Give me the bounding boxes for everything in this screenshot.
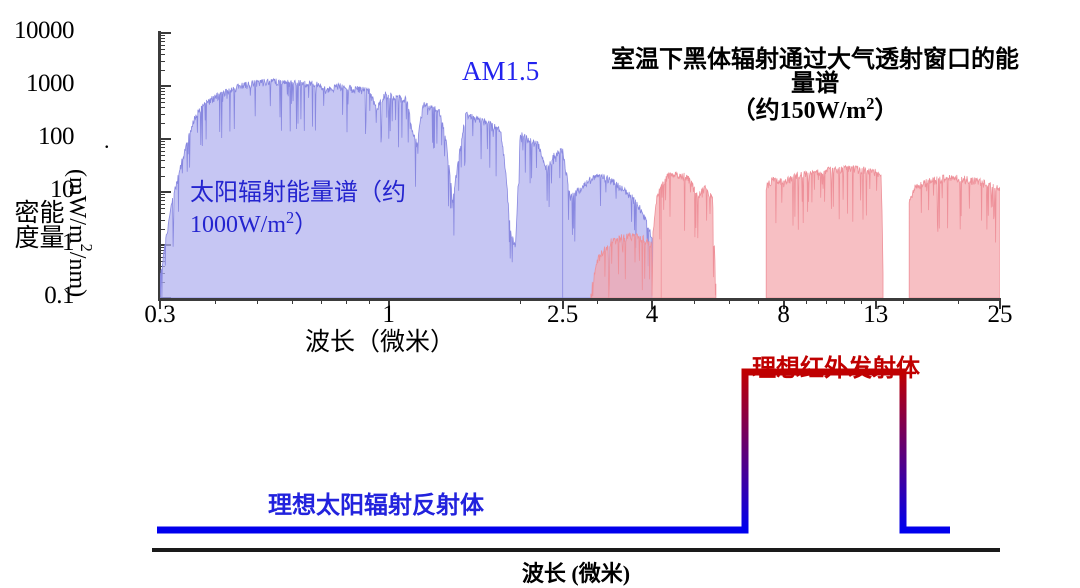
y-tick-label: 10	[50, 176, 74, 204]
ir-spectrum-series	[591, 165, 1000, 298]
y-tick-label: 1000	[26, 70, 74, 98]
x-tick-minor	[597, 298, 598, 304]
emitter-diagram: 理想红外发射体 理想太阳辐射反射体 波长 (微米)	[0, 345, 1080, 581]
figure-root: . 能量密度 (mW/m2/nm) 1000010001001010.1 0.3…	[0, 0, 1080, 581]
annotation-am15: AM1.5	[462, 56, 539, 87]
solar-label-line2-sup: 2	[286, 208, 294, 227]
subtitle-pre: （约150W/m	[732, 98, 867, 124]
x-tick-minor	[903, 298, 904, 304]
solar-label-line2-post: ）	[294, 212, 318, 238]
chart-title: 室温下黑体辐射通过大气透射窗口的能量谱	[600, 48, 1030, 96]
x-tick-minor	[958, 298, 959, 304]
chart-subtitle: （约150W/m2）	[600, 90, 1030, 125]
solar-label-line1: 太阳辐射能量谱（约	[190, 180, 406, 206]
x-tick-minor	[321, 298, 322, 304]
y-axis-label: . 能量密度 (mW/m2/nm)	[0, 74, 142, 254]
diagram-x-axis-label: 波长 (微米)	[152, 556, 1000, 588]
y-tick-label: 0.1	[44, 282, 74, 310]
x-tick-label: 25	[988, 301, 1013, 329]
x-tick-minor	[369, 298, 370, 304]
x-tick-minor	[346, 298, 347, 304]
x-tick-minor	[806, 298, 807, 304]
subtitle-post: ）	[874, 98, 898, 124]
x-tick-minor	[826, 298, 827, 304]
x-tick-minor	[694, 298, 695, 304]
label-ideal-solar-reflector: 理想太阳辐射反射体	[268, 485, 484, 520]
x-tick-label: 13	[863, 301, 888, 329]
y-unit-sup: 2	[77, 244, 96, 252]
solar-label-line2-pre: 1000W/m	[190, 212, 286, 238]
x-tick-label: 4	[646, 301, 659, 329]
x-tick-minor	[758, 298, 759, 304]
x-tick-minor	[861, 298, 862, 304]
y-tick-label: 10000	[14, 17, 74, 45]
x-tick-minor	[729, 298, 730, 304]
ir-spectrum-area	[591, 165, 1000, 298]
label-ideal-ir-emitter: 理想红外发射体	[752, 348, 920, 383]
x-tick-minor	[215, 298, 216, 304]
y-axis-dot-mark: .	[104, 128, 110, 154]
x-tick-minor	[257, 298, 258, 304]
x-tick-label: 8	[777, 301, 790, 329]
annotation-solar-spectrum: 太阳辐射能量谱（约 1000W/m2）	[190, 178, 440, 240]
y-tick-label: 1	[62, 229, 74, 257]
y-tick-label: 100	[38, 123, 74, 151]
x-tick-minor	[292, 298, 293, 304]
spectral-chart: . 能量密度 (mW/m2/nm) 1000010001001010.1 0.3…	[0, 0, 1080, 345]
diagram-baseline	[152, 548, 1000, 552]
x-tick-minor	[844, 298, 845, 304]
x-tick-minor	[520, 298, 521, 304]
